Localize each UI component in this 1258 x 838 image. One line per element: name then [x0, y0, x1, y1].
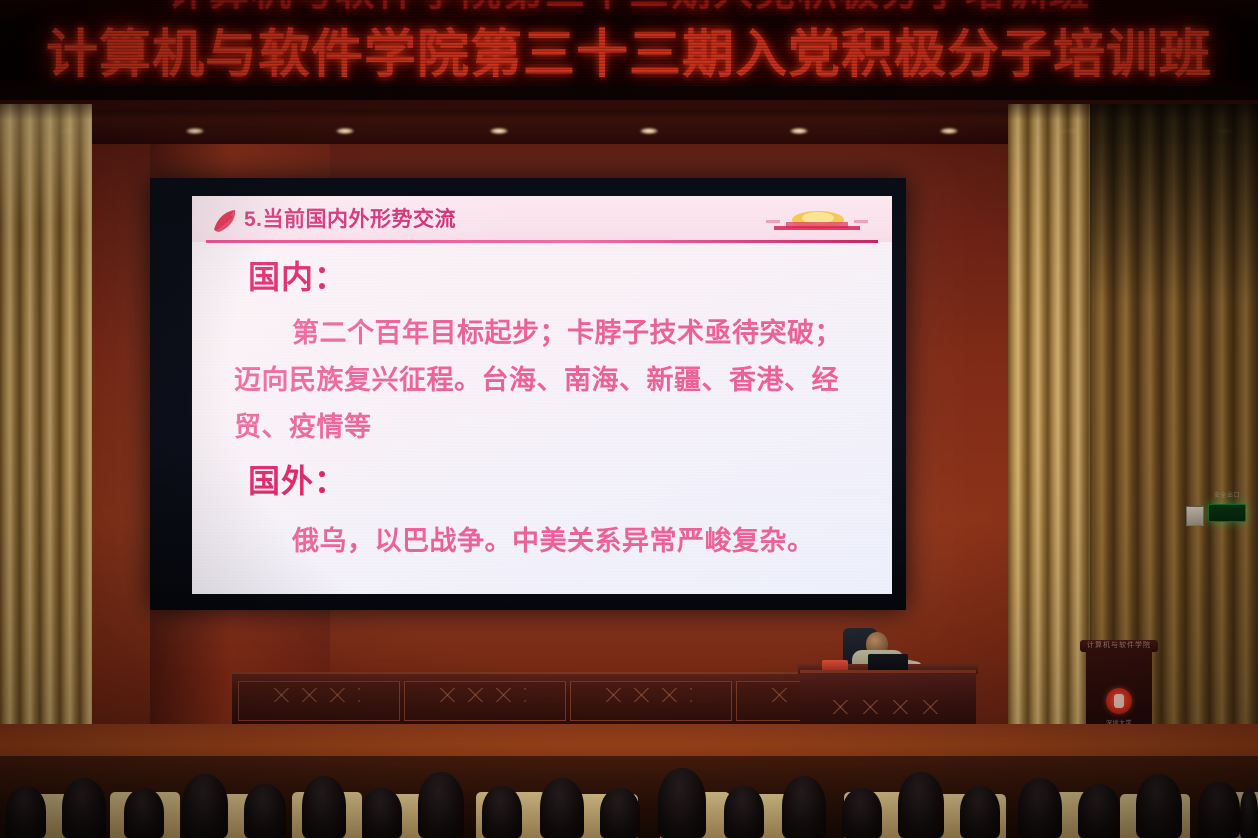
stage-curtain-left — [0, 104, 92, 784]
ceiling-downlight — [490, 128, 508, 134]
audience-area — [0, 756, 1258, 838]
slide-body: 国内： 第二个百年目标起步；卡脖子技术亟待突破；迈向民族复兴征程。台海、南海、新… — [192, 248, 892, 594]
ceiling-downlight — [186, 128, 204, 134]
audience-member — [1240, 788, 1258, 838]
projection-screen: 5.当前国内外形势交流 国内： 第二个百年目标起步；卡脖子技术亟待突破；迈向民族… — [192, 196, 892, 594]
slide-title: 5.当前国内外形势交流 — [244, 206, 456, 233]
audience-member — [960, 786, 1000, 838]
audience-member — [182, 774, 228, 838]
party-hammer-sickle-icon — [210, 205, 240, 235]
slide-header: 5.当前国内外形势交流 — [192, 196, 892, 242]
audience-member — [302, 776, 346, 838]
emergency-exit-sign — [1208, 504, 1246, 522]
audience-member — [600, 788, 640, 838]
led-banner-top-row: 计算机与软件学院第三十三期入党积极分子培训班 — [0, 0, 1258, 16]
section-label-domestic: 国内： — [248, 258, 347, 296]
lectern-logo-inner — [1114, 694, 1124, 708]
panel-chevron-motif — [434, 688, 526, 702]
exit-sign-label: 安全出口 — [1206, 490, 1248, 499]
audience-member — [6, 786, 46, 838]
audience-member — [124, 788, 164, 838]
section-text-domestic: 第二个百年目标起步；卡脖子技术亟待突破；迈向民族复兴征程。台海、南海、新疆、香港… — [234, 310, 854, 451]
audience-member — [362, 788, 402, 838]
lectern-top-text: 计算机与软件学院 — [1084, 641, 1154, 651]
tiananmen-gate-icon — [756, 204, 876, 238]
ceiling-downlight — [790, 128, 808, 134]
desk-chevron-motif — [826, 700, 946, 714]
audience-member — [658, 768, 706, 838]
section-label-foreign: 国外： — [248, 462, 347, 500]
wall-switch-plate — [1186, 506, 1204, 526]
ceiling-downlight — [336, 128, 354, 134]
audience-member — [482, 786, 522, 838]
led-banner-main-row: 计算机与软件学院第三十三期入党积极分子培训班 — [0, 26, 1258, 84]
audience-member — [782, 776, 826, 838]
audience-member — [418, 772, 464, 838]
panel-chevron-motif — [600, 688, 692, 702]
slide-header-rule — [206, 240, 878, 243]
ceiling-downlight — [640, 128, 658, 134]
audience-member — [1136, 774, 1182, 838]
panel-chevron-motif — [268, 688, 360, 702]
audience-member — [1198, 782, 1240, 838]
led-banner: 计算机与软件学院第三十三期入党积极分子培训班 计算机与软件学院第三十三期入党积极… — [0, 0, 1258, 100]
section-text-foreign: 俄乌，以巴战争。中美关系异常严峻复杂。 — [234, 518, 854, 565]
audience-member — [1018, 778, 1062, 838]
curtain-shadow — [1090, 104, 1258, 304]
audience-member — [540, 778, 584, 838]
audience-member — [62, 778, 106, 838]
audience-member — [724, 786, 764, 838]
audience-member — [1078, 784, 1120, 838]
stage-curtain-right-front — [1008, 104, 1094, 764]
audience-member — [244, 784, 286, 838]
auditorium-scene: 安全出口 5.当前国内外形势交流 — [0, 0, 1258, 838]
ceiling-downlight — [940, 128, 958, 134]
audience-member — [898, 772, 944, 838]
audience-member — [842, 788, 882, 838]
